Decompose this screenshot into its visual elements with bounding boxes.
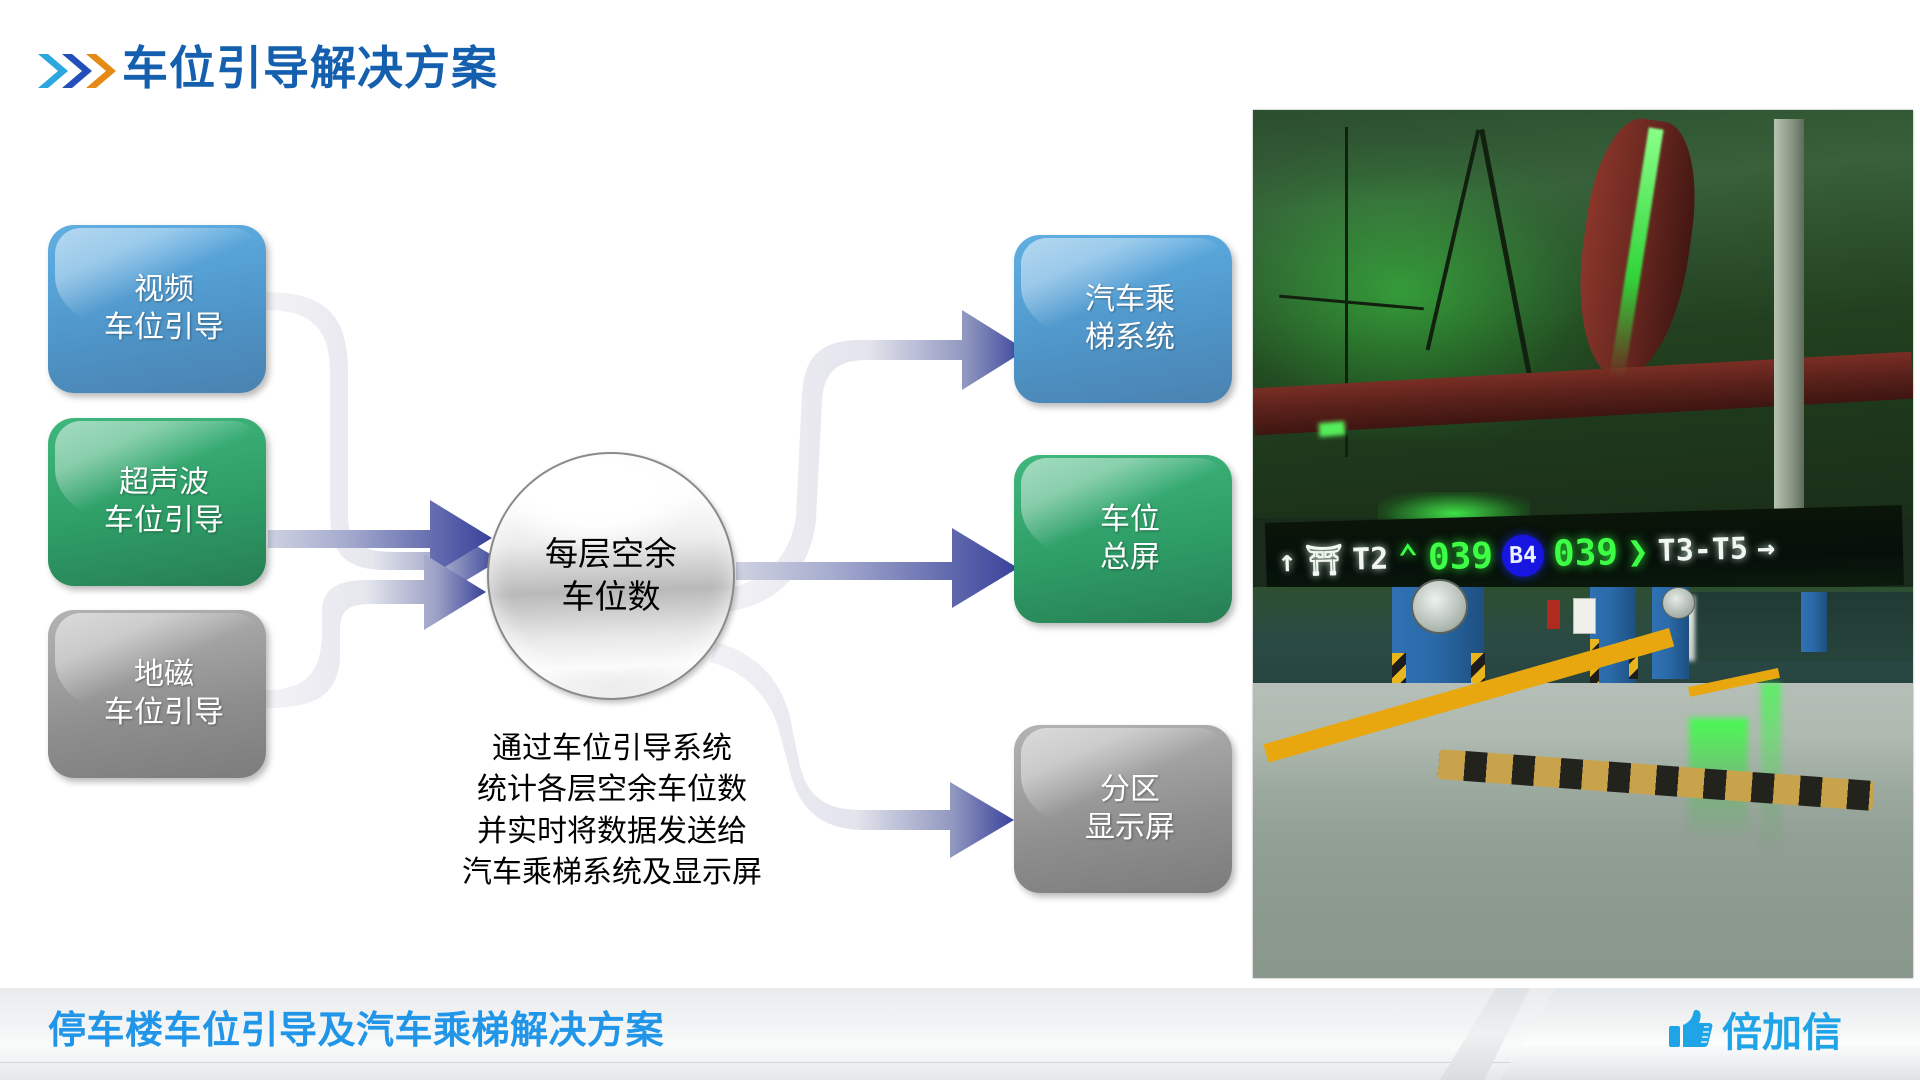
node-car-lift-system[interactable]: 汽车乘 梯系统: [1014, 235, 1232, 403]
led-segment-count-1: 039: [1428, 536, 1494, 579]
led-segment-caret: ⌃: [1397, 539, 1420, 581]
led-segment-arrow-up: ↑: [1278, 545, 1297, 580]
brand-lockup[interactable]: 倍加信: [1668, 1000, 1842, 1058]
photo-convex-mirror-2: [1662, 587, 1695, 618]
node-total-display[interactable]: 车位 总屏: [1014, 455, 1232, 623]
parking-garage-photo: ↑ ⛩ T2 ⌃ 039 B4 039 ❯ T3-T5 →: [1253, 110, 1913, 978]
photo-ceiling-column: [1774, 119, 1804, 570]
brand-name: 倍加信: [1722, 1000, 1842, 1058]
node-ultrasonic-guidance[interactable]: 超声波 车位引导: [48, 418, 266, 586]
led-segment-t3-t5: T3-T5: [1657, 532, 1748, 570]
hub-sphere[interactable]: 每层空余 车位数: [487, 452, 735, 700]
photo-wall-sign: [1573, 598, 1595, 634]
led-segment-chevron: ❯: [1627, 532, 1650, 574]
photo-fire-cabinet: [1547, 600, 1560, 630]
node-total-display-label: 车位 总屏: [1086, 501, 1160, 578]
photo-green-led-strip-2: [1318, 421, 1345, 437]
note-line-3: 并实时将数据发送给: [382, 811, 842, 852]
led-segment-count-2: 039: [1553, 533, 1619, 576]
node-video-label: 视频 车位引导: [90, 271, 224, 348]
node-geomagnetic-guidance[interactable]: 地磁 车位引导: [48, 610, 266, 778]
photo-green-floor-reflection-2: [1761, 683, 1781, 857]
slide-root: 车位引导解决方案: [0, 0, 1920, 1080]
node-geomagnetic-label: 地磁 车位引导: [90, 656, 224, 733]
center-description: 通过车位引导系统 统计各层空余车位数 并实时将数据发送给 汽车乘梯系统及显示屏: [382, 728, 842, 894]
photo-far-corridor: [1662, 592, 1913, 661]
photo-convex-mirror-1: [1411, 579, 1468, 635]
node-zone-display[interactable]: 分区 显示屏: [1014, 725, 1232, 893]
led-segment-level-b4: B4: [1502, 535, 1545, 578]
note-line-2: 统计各层空余车位数: [382, 769, 842, 810]
node-video-guidance[interactable]: 视频 车位引导: [48, 225, 266, 393]
led-segment-t2: T2: [1352, 542, 1389, 578]
node-car-lift-label: 汽车乘 梯系统: [1071, 281, 1175, 358]
note-line-4: 汽车乘梯系统及显示屏: [382, 852, 842, 893]
led-segment-arrow-right: →: [1757, 532, 1776, 567]
thumbs-up-icon: [1668, 1008, 1714, 1050]
photo-blue-column-4: [1801, 592, 1827, 653]
led-segment-glyph: ⛩: [1305, 544, 1344, 580]
node-ultrasonic-label: 超声波 车位引导: [90, 464, 224, 541]
arrow-hub-to-total: [736, 528, 1018, 608]
footer-title: 停车楼车位引导及汽车乘梯解决方案: [48, 999, 664, 1054]
arrow-geomagnet-to-hub: [266, 554, 486, 708]
node-zone-display-label: 分区 显示屏: [1071, 771, 1175, 848]
note-line-1: 通过车位引导系统: [382, 728, 842, 769]
hub-label: 每层空余 车位数: [545, 533, 677, 619]
